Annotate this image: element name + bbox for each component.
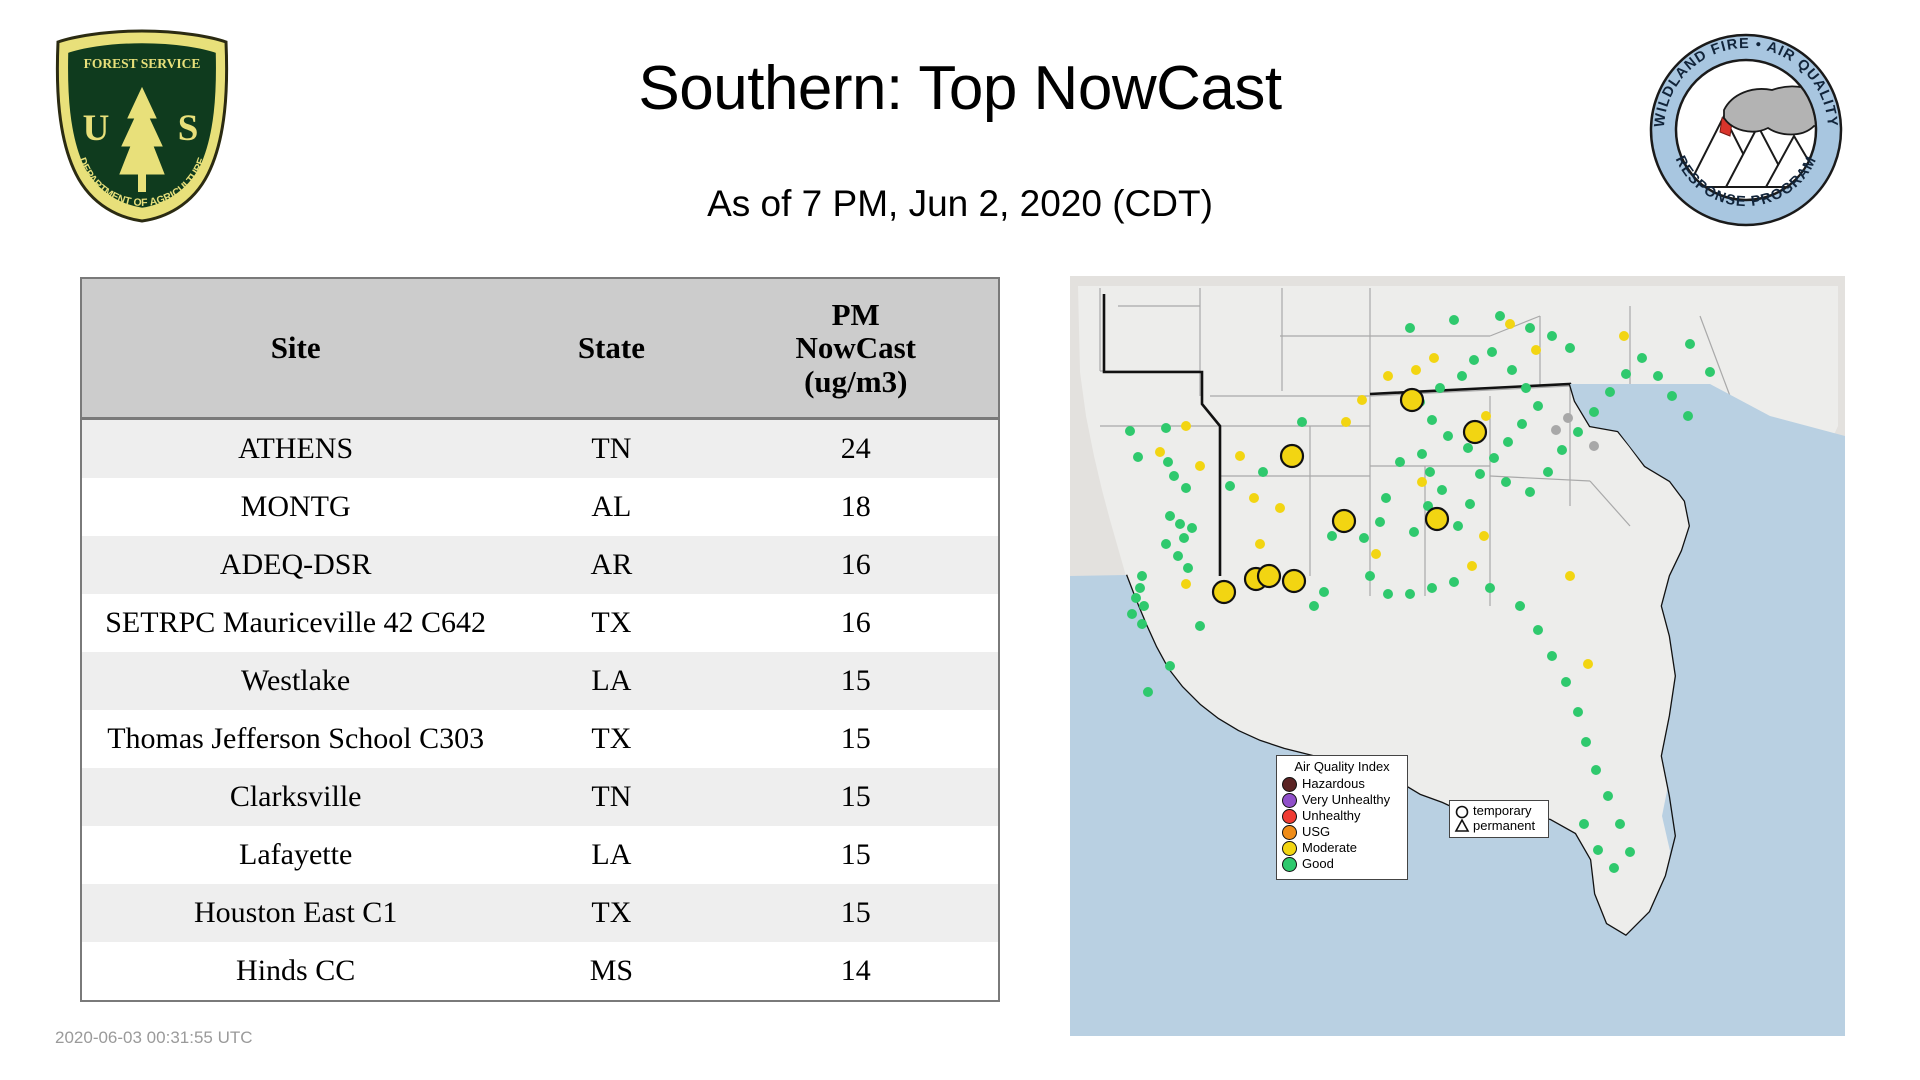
site-type-label-permanent: permanent [1473,819,1535,834]
aqi-legend: Air Quality Index HazardousVery Unhealth… [1276,755,1408,880]
cell-site: Houston East C1 [82,884,509,942]
aqi-legend-rows: HazardousVery UnhealthyUnhealthyUSGModer… [1282,777,1402,872]
column-header-state: State [509,279,713,419]
cell-site: MONTG [82,478,509,536]
cell-site: Westlake [82,652,509,710]
map-top-site-marker[interactable] [1258,565,1280,587]
table-row: Thomas Jefferson School C303TX15 [82,710,998,768]
cell-pm-nowcast: 16 [713,536,998,594]
top-nowcast-table: Site State PM NowCast (ug/m3) ATHENSTN24… [80,277,1000,1002]
aqi-legend-label: Moderate [1302,841,1357,856]
table-row: ADEQ-DSRAR16 [82,536,998,594]
cell-state: TX [509,884,713,942]
aqi-legend-item: Very Unhealthy [1282,793,1402,808]
cell-pm-nowcast: 24 [713,419,998,479]
aqi-legend-swatch-icon [1282,793,1297,808]
site-type-legend: temporary permanent [1449,800,1549,838]
table-row: WestlakeLA15 [82,652,998,710]
southern-region-aqi-map[interactable] [1070,276,1845,1036]
cell-state: LA [509,826,713,884]
map-top-site-marker[interactable] [1213,581,1235,603]
map-top-site-marker[interactable] [1283,570,1305,592]
map-top-site-marker[interactable] [1333,510,1355,532]
aqi-legend-label: Hazardous [1302,777,1365,792]
aqi-legend-swatch-icon [1282,809,1297,824]
aqi-data-table: Site State PM NowCast (ug/m3) ATHENSTN24… [82,279,998,1000]
footer-timestamp: 2020-06-03 00:31:55 UTC [55,1028,253,1048]
aqi-legend-swatch-icon [1282,825,1297,840]
map-top-site-marker[interactable] [1281,445,1303,467]
table-row: SETRPC Mauriceville 42 C642TX16 [82,594,998,652]
map-top-site-marker[interactable] [1401,389,1423,411]
aqi-legend-swatch-icon [1282,857,1297,872]
cell-state: TX [509,594,713,652]
cell-state: AL [509,478,713,536]
column-header-site: Site [82,279,509,419]
aqi-legend-item: USG [1282,825,1402,840]
table-row: Houston East C1TX15 [82,884,998,942]
cell-state: LA [509,652,713,710]
table-header-row: Site State PM NowCast (ug/m3) [82,279,998,419]
site-type-label-temporary: temporary [1473,804,1535,819]
map-top-site-marker[interactable] [1464,421,1486,443]
cell-state: TX [509,710,713,768]
page-title: Southern: Top NowCast [0,58,1920,120]
cell-pm-nowcast: 16 [713,594,998,652]
cell-site: SETRPC Mauriceville 42 C642 [82,594,509,652]
cell-pm-nowcast: 14 [713,942,998,1000]
aqi-legend-item: Good [1282,857,1402,872]
aqi-legend-label: Very Unhealthy [1302,793,1390,808]
site-type-legend-icons [1454,804,1470,834]
map-top-site-marker[interactable] [1426,508,1448,530]
triangle-marker-icon [1456,820,1468,831]
cell-pm-nowcast: 18 [713,478,998,536]
cell-site: Thomas Jefferson School C303 [82,710,509,768]
aqi-legend-title: Air Quality Index [1282,760,1402,774]
table-row: LafayetteLA15 [82,826,998,884]
cell-site: ATHENS [82,419,509,479]
cell-pm-nowcast: 15 [713,826,998,884]
cell-pm-nowcast: 15 [713,710,998,768]
table-body: ATHENSTN24MONTGAL18ADEQ-DSRAR16SETRPC Ma… [82,419,998,1001]
cell-state: TN [509,768,713,826]
cell-pm-nowcast: 15 [713,652,998,710]
aqi-legend-label: Good [1302,857,1334,872]
cell-state: AR [509,536,713,594]
column-header-pm-line1: PM [717,298,994,331]
aqi-legend-swatch-icon [1282,841,1297,856]
aqi-legend-swatch-icon [1282,777,1297,792]
cell-site: Clarksville [82,768,509,826]
cell-state: MS [509,942,713,1000]
cell-state: TN [509,419,713,479]
page-subtitle: As of 7 PM, Jun 2, 2020 (CDT) [0,185,1920,222]
cell-pm-nowcast: 15 [713,768,998,826]
aqi-legend-label: Unhealthy [1302,809,1361,824]
column-header-pm-nowcast: PM NowCast (ug/m3) [713,279,998,419]
table-row: Hinds CCMS14 [82,942,998,1000]
circle-marker-icon [1457,807,1468,818]
aqi-legend-item: Unhealthy [1282,809,1402,824]
aqi-legend-item: Moderate [1282,841,1402,856]
cell-site: ADEQ-DSR [82,536,509,594]
table-row: MONTGAL18 [82,478,998,536]
map-svg [1070,276,1845,1036]
column-header-pm-line3: (ug/m3) [717,365,994,398]
table-row: ClarksvilleTN15 [82,768,998,826]
cell-site: Hinds CC [82,942,509,1000]
table-row: ATHENSTN24 [82,419,998,479]
column-header-pm-line2: NowCast [717,331,994,364]
aqi-legend-item: Hazardous [1282,777,1402,792]
table-header: Site State PM NowCast (ug/m3) [82,279,998,419]
aqi-legend-label: USG [1302,825,1330,840]
cell-site: Lafayette [82,826,509,884]
cell-pm-nowcast: 15 [713,884,998,942]
site-type-labels: temporary permanent [1473,804,1535,834]
